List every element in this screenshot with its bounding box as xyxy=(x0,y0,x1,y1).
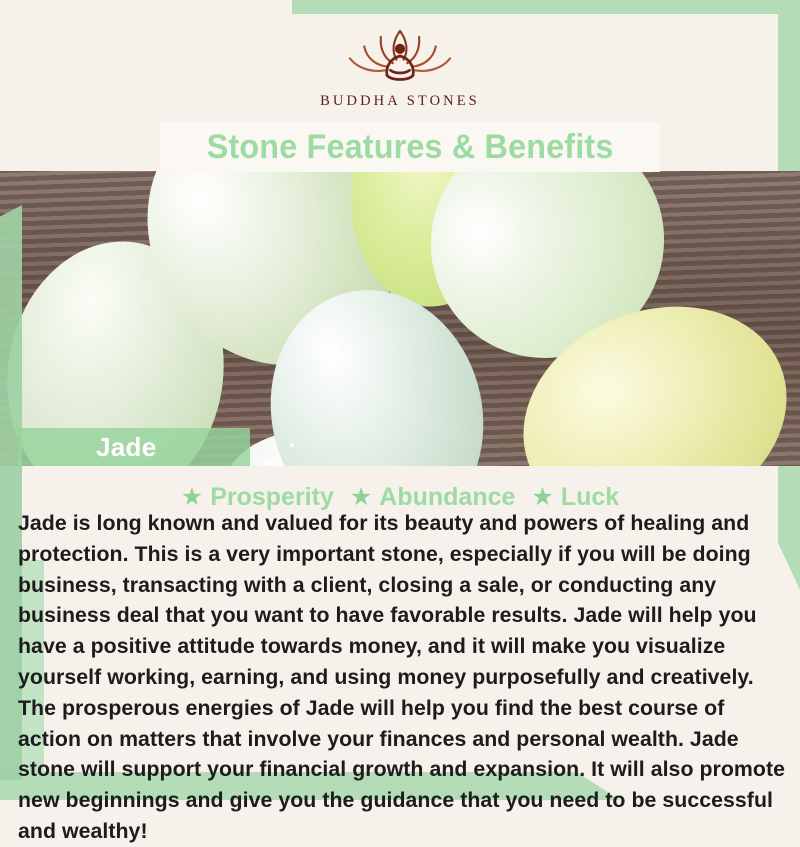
stone-name-label: Jade xyxy=(96,432,156,463)
frame-accent-top xyxy=(292,0,800,14)
brand-name: BUDDHA STONES xyxy=(320,93,480,110)
star-icon: ★ xyxy=(531,485,553,510)
highlight-dot xyxy=(266,461,271,466)
page-title: Stone Features & Benefits xyxy=(207,128,614,167)
stone-description: Jade is long known and valued for its be… xyxy=(18,508,786,847)
lotus-meditation-icon xyxy=(340,25,460,87)
highlight-dot xyxy=(290,443,294,447)
title-banner: Stone Features & Benefits xyxy=(160,122,660,172)
brand-logo: BUDDHA STONES xyxy=(0,14,800,120)
star-icon: ★ xyxy=(350,485,372,510)
stone-name-badge: Jade xyxy=(18,428,250,466)
jade-tumbled-stones-photo xyxy=(0,171,800,466)
star-icon: ★ xyxy=(181,485,203,510)
